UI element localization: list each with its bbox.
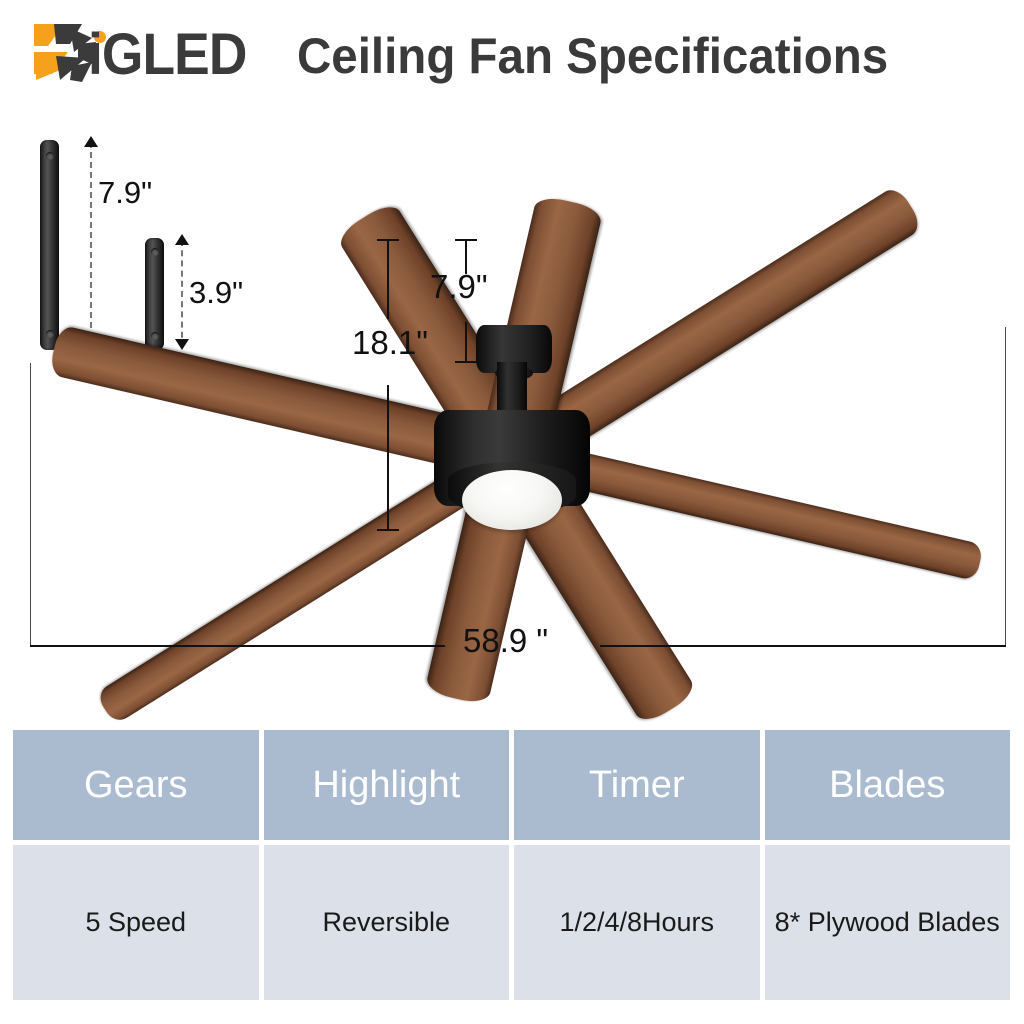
- value-blades: 8* Plywood Blades: [765, 845, 1011, 1000]
- ceiling-fan-illustration: [0, 110, 1024, 710]
- width-dimension-line-left: [30, 645, 445, 647]
- column-header-blades: Blades: [765, 730, 1011, 840]
- height-dimension-line-lower: [387, 385, 389, 530]
- value-timer: 1/2/4/8Hours: [514, 845, 760, 1000]
- product-diagram: 7.9" 3.9" 18.1": [0, 110, 1024, 710]
- fan-width-label: 58.9 ": [463, 622, 548, 660]
- height-dimension-line-upper: [387, 239, 389, 319]
- value-gears: 5 Speed: [13, 845, 259, 1000]
- fan-downrod-tick-bottom: [455, 361, 477, 363]
- page-header: iGLED Ceiling Fan Specifications: [0, 0, 1024, 110]
- specification-table: Gears Highlight Timer Blades 5 Speed Rev…: [13, 730, 1010, 1000]
- brand-name: iGLED: [88, 24, 246, 86]
- table-value-row: 5 Speed Reversible 1/2/4/8Hours 8* Plywo…: [13, 845, 1010, 1000]
- width-extension-right: [1005, 327, 1006, 645]
- fan-height-label: 18.1": [352, 324, 428, 362]
- table-header-row: Gears Highlight Timer Blades: [13, 730, 1010, 840]
- width-dimension-line-right: [600, 645, 1006, 647]
- fan-downrod-label: 7.9": [430, 268, 488, 306]
- height-tick-bottom: [377, 529, 399, 531]
- column-header-gears: Gears: [13, 730, 259, 840]
- column-header-highlight: Highlight: [264, 730, 510, 840]
- value-highlight: Reversible: [264, 845, 510, 1000]
- page-title: Ceiling Fan Specifications: [297, 26, 888, 86]
- fan-downrod-dimension-line-lower: [465, 322, 467, 362]
- column-header-timer: Timer: [514, 730, 760, 840]
- width-extension-left: [30, 363, 31, 645]
- led-light-kit: [462, 470, 562, 530]
